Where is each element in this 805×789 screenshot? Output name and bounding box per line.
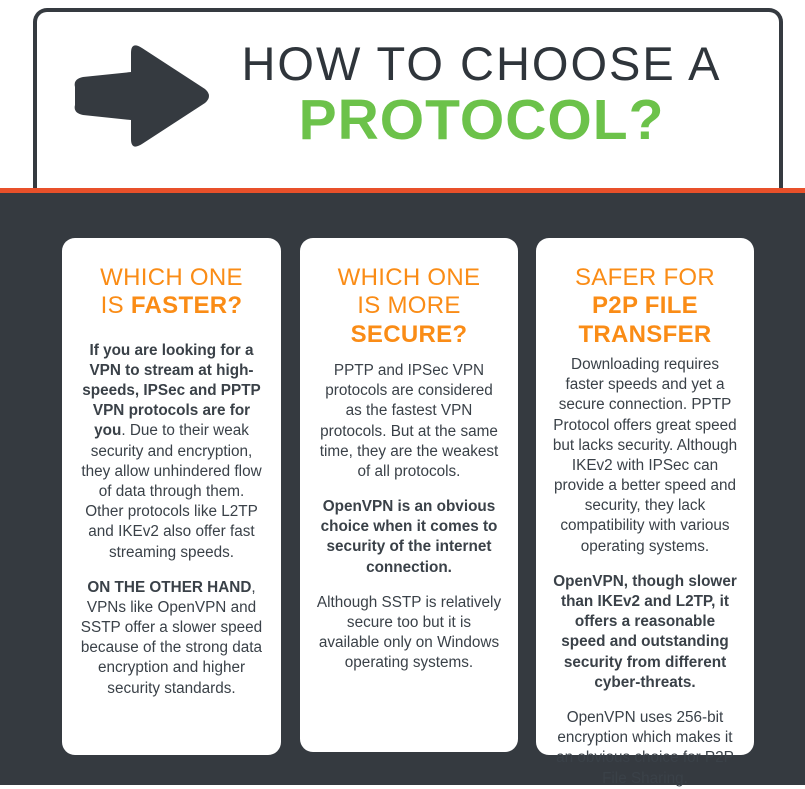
card-heading-secure-line3: SECURE? bbox=[351, 321, 468, 348]
card-heading-p2p: SAFER FOR P2P FILE TRANSFER bbox=[552, 264, 738, 349]
card-heading-faster-line2-prefix: IS bbox=[101, 292, 131, 319]
header-title-block: HOW TO CHOOSE A PROTOCOL? bbox=[212, 40, 779, 153]
card-heading-p2p-line2: P2P FILE bbox=[592, 292, 698, 319]
card-body-faster-p2-rest: , VPNs like OpenVPN and SSTP offer a slo… bbox=[81, 579, 262, 697]
header-region: HOW TO CHOOSE A PROTOCOL? bbox=[0, 0, 805, 188]
card-body-secure-p3-rest: Although SSTP is relatively secure too b… bbox=[317, 594, 501, 672]
card-heading-p2p-line3: TRANSFER bbox=[578, 321, 711, 348]
card-heading-secure: WHICH ONE IS MORE SECURE? bbox=[316, 264, 502, 349]
card-body-secure-p2: OpenVPN is an obvious choice when it com… bbox=[316, 497, 502, 578]
card-which-one-is-more-secure[interactable]: WHICH ONE IS MORE SECURE? PPTP and IPSec… bbox=[300, 238, 518, 752]
card-heading-secure-line1: WHICH ONE bbox=[338, 264, 481, 291]
card-body-p2p-p1: Downloading requires faster speeds and y… bbox=[552, 355, 738, 557]
card-heading-p2p-line1: SAFER FOR bbox=[575, 264, 715, 291]
card-body-p2p-p3: OpenVPN uses 256-bit encryption which ma… bbox=[552, 708, 738, 789]
page-title-line-2: PROTOCOL? bbox=[212, 88, 751, 154]
card-body-faster-p2: ON THE OTHER HAND, VPNs like OpenVPN and… bbox=[78, 578, 265, 699]
card-heading-faster: WHICH ONE IS FASTER? bbox=[78, 264, 265, 321]
card-body-faster-p2-bold: ON THE OTHER HAND bbox=[87, 579, 251, 596]
card-body-secure-p3: Although SSTP is relatively secure too b… bbox=[316, 593, 502, 674]
card-body-p2p-p2-bold: OpenVPN, though slower than IKEv2 and L2… bbox=[553, 573, 737, 691]
card-heading-faster-line1: WHICH ONE bbox=[100, 264, 243, 291]
card-body-p2p-p3-rest: OpenVPN uses 256-bit encryption which ma… bbox=[556, 709, 734, 787]
card-heading-faster-line2-emphasis: FASTER? bbox=[131, 292, 242, 319]
card-body-p2p-p2: OpenVPN, though slower than IKEv2 and L2… bbox=[552, 572, 738, 693]
page-title-line-1: HOW TO CHOOSE A bbox=[212, 40, 751, 88]
card-body-secure-p1: PPTP and IPSec VPN protocols are conside… bbox=[316, 361, 502, 482]
card-body-p2p-p1-rest: Downloading requires faster speeds and y… bbox=[553, 356, 737, 555]
card-which-one-is-faster[interactable]: WHICH ONE IS FASTER? If you are looking … bbox=[62, 238, 281, 755]
card-body-faster-p1: If you are looking for a VPN to stream a… bbox=[78, 341, 265, 563]
card-safer-for-p2p-file-transfer[interactable]: SAFER FOR P2P FILE TRANSFER Downloading … bbox=[536, 238, 754, 755]
body-region: WHICH ONE IS FASTER? If you are looking … bbox=[0, 193, 805, 785]
card-body-secure-p2-bold: OpenVPN is an obvious choice when it com… bbox=[321, 498, 498, 576]
card-body-faster: If you are looking for a VPN to stream a… bbox=[78, 341, 265, 699]
card-body-secure-p1-rest: PPTP and IPSec VPN protocols are conside… bbox=[320, 362, 499, 480]
card-heading-secure-line2: IS MORE bbox=[357, 292, 460, 319]
card-body-p2p: Downloading requires faster speeds and y… bbox=[552, 355, 738, 789]
card-body-faster-p1-rest: . Due to their weak security and encrypt… bbox=[81, 422, 261, 560]
right-arrow-icon bbox=[67, 39, 212, 154]
header-title-box: HOW TO CHOOSE A PROTOCOL? bbox=[33, 8, 783, 188]
card-body-secure: PPTP and IPSec VPN protocols are conside… bbox=[316, 361, 502, 674]
